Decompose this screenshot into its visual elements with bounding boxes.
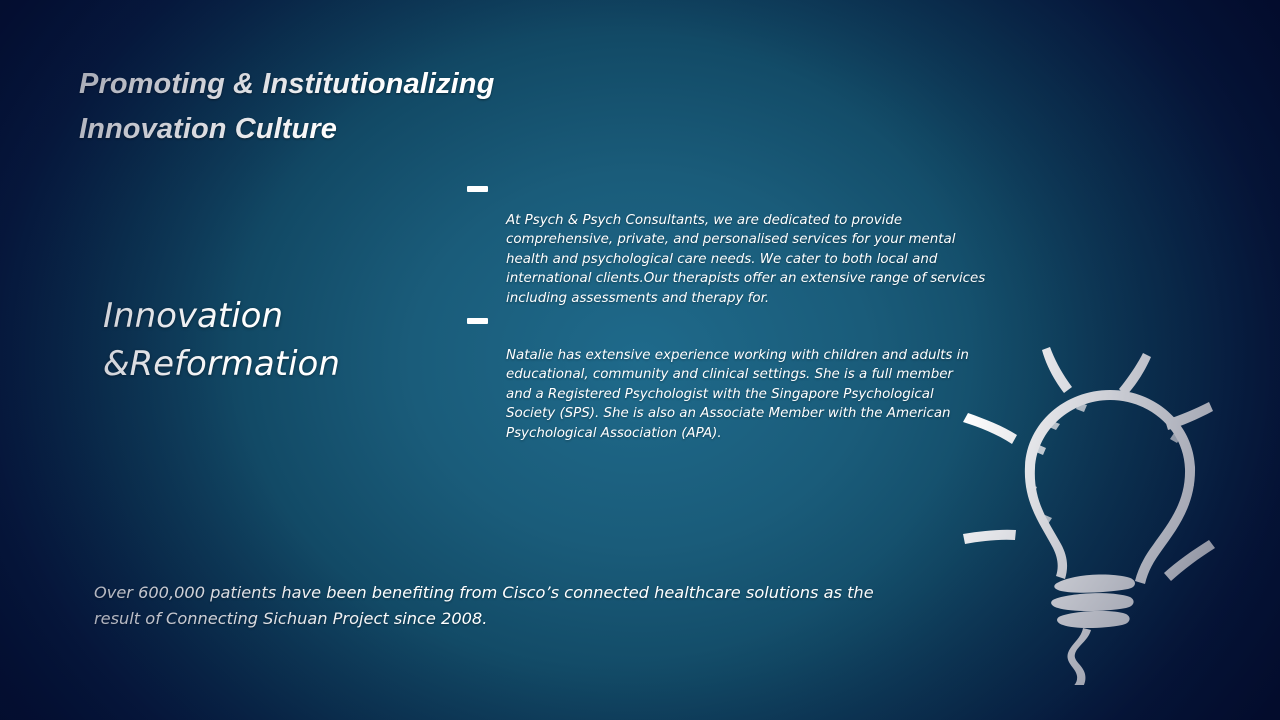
body-paragraph: At Psych & Psych Consultants, we are ded… [506, 211, 998, 308]
dash-marker-icon [467, 318, 488, 324]
page-title: Promoting & Institutionalizing Innovatio… [79, 62, 719, 152]
dash-marker-icon [467, 186, 488, 192]
slide-canvas: Promoting & Institutionalizing Innovatio… [0, 0, 1280, 720]
lightbulb-icon [955, 335, 1265, 685]
footer-note: Over 600,000 patients have been benefiti… [94, 580, 894, 632]
section-heading: Innovation &Reformation [103, 292, 433, 388]
body-paragraph: Natalie has extensive experience working… [506, 346, 976, 443]
